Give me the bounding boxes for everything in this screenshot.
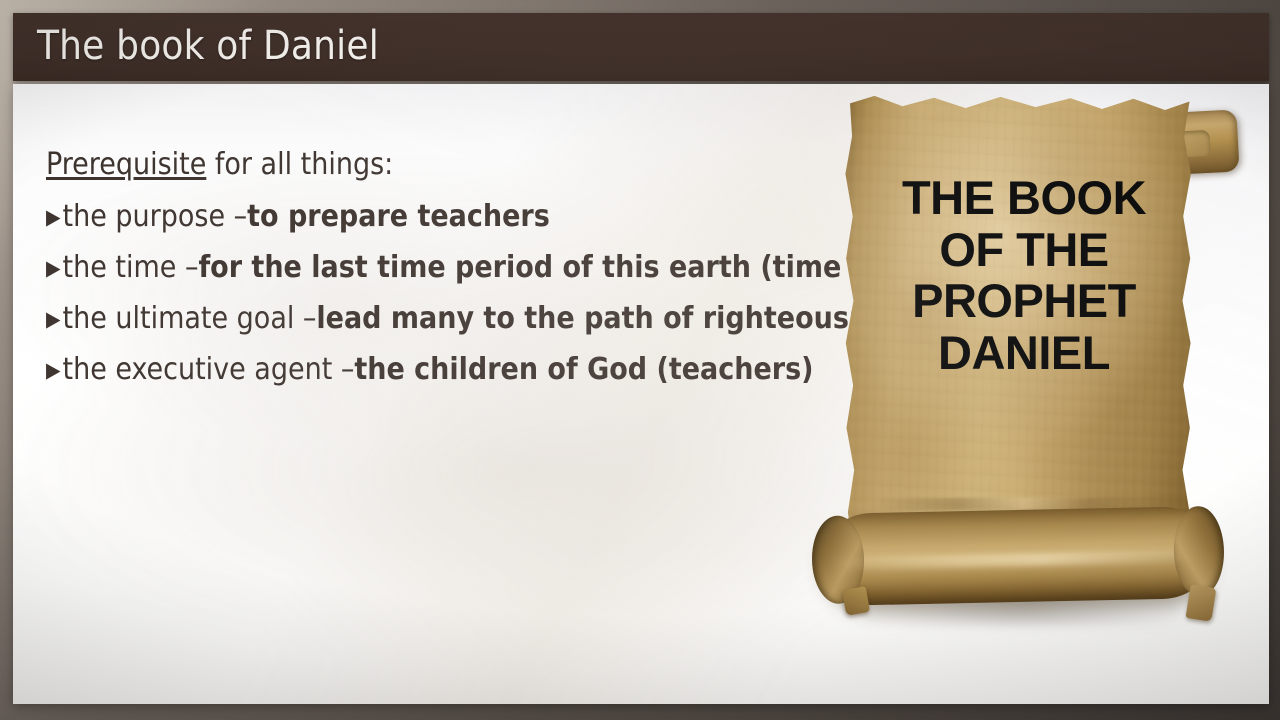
list-item-label: the executive agent – xyxy=(63,355,355,385)
triangle-bullet-icon: ▶ xyxy=(46,258,61,279)
slide-frame: The book of Daniel Prerequisite for all … xyxy=(0,0,1280,720)
triangle-bullet-icon: ▶ xyxy=(46,360,61,381)
slide-title-bar: The book of Daniel xyxy=(13,13,1269,81)
scroll-heading-line-3: PROPHET xyxy=(806,275,1242,327)
triangle-bullet-icon: ▶ xyxy=(46,309,61,330)
list-item-value: to prepare teachers xyxy=(247,202,550,232)
scroll-heading-line-2: OF THE xyxy=(806,224,1242,276)
bullet-list: Prerequisite for all things: ▶ the purpo… xyxy=(46,150,839,406)
list-item-label: the time – xyxy=(63,253,199,283)
scroll-roll-tab-left xyxy=(842,586,870,616)
scroll-heading-line-1: THE BOOK xyxy=(806,172,1242,224)
lead-rest: for all things: xyxy=(206,147,393,182)
scroll-roll-tab-right xyxy=(1186,584,1217,622)
list-item-value: the children of God (teachers) xyxy=(354,355,813,385)
list-item: ▶ the time – for the last time period of… xyxy=(46,253,839,283)
scroll-heading-line-4: DANIEL xyxy=(806,327,1242,379)
list-item: ▶ the executive agent – the children of … xyxy=(46,355,839,385)
triangle-bullet-icon: ▶ xyxy=(46,207,61,228)
list-item-label: the purpose – xyxy=(63,202,248,232)
lead-emphasis: Prerequisite xyxy=(46,147,206,182)
slide-content-panel: Prerequisite for all things: ▶ the purpo… xyxy=(13,84,1269,704)
scroll-heading: THE BOOK OF THE PROPHET DANIEL xyxy=(806,172,1242,379)
lead-line: Prerequisite for all things: xyxy=(46,150,839,180)
list-item-label: the ultimate goal – xyxy=(63,304,317,334)
scroll-illustration: THE BOOK OF THE PROPHET DANIEL xyxy=(788,84,1258,640)
list-item: ▶ the ultimate goal – lead many to the p… xyxy=(46,304,839,334)
list-item: ▶ the purpose – to prepare teachers xyxy=(46,202,839,232)
slide-title: The book of Daniel xyxy=(37,23,379,69)
